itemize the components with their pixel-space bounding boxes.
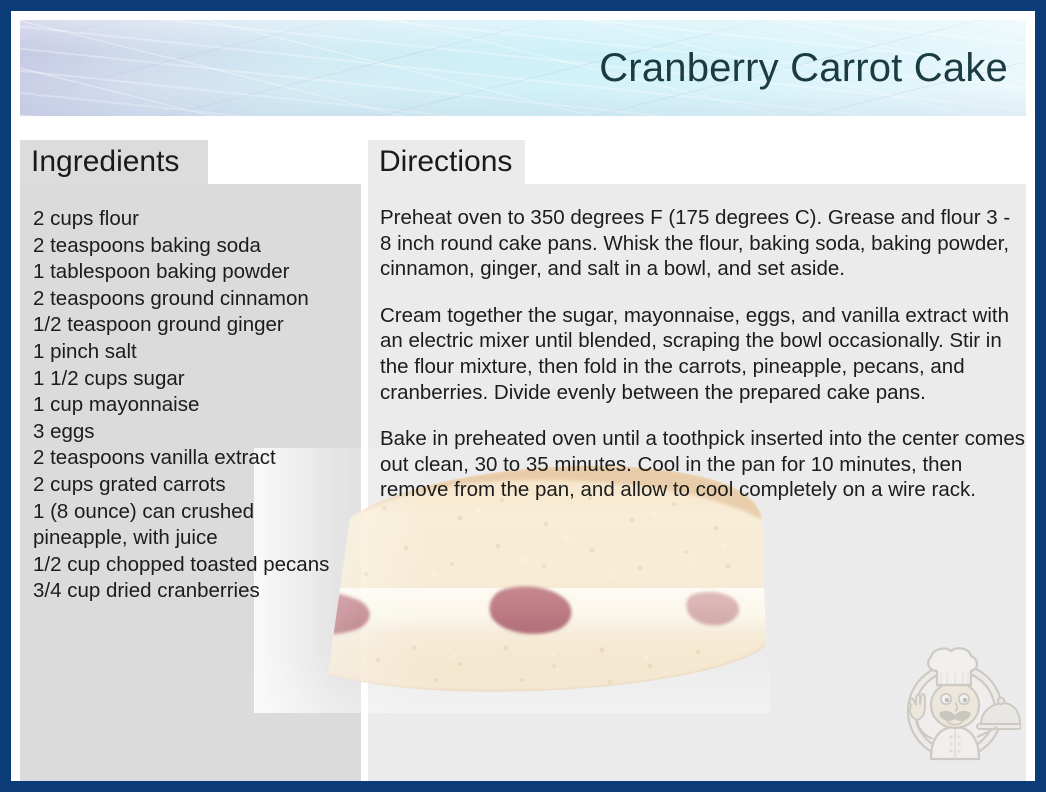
ingredient-item: 2 cups grated carrots [33,472,363,499]
ingredient-item: 1 (8 ounce) can crushed pineapple, with … [33,499,363,552]
ingredients-list: 2 cups flour2 teaspoons baking soda1 tab… [33,206,363,605]
ingredient-item: 1 tablespoon baking powder [33,259,363,286]
ingredients-heading: Ingredients [20,140,208,184]
ingredient-item: 1/2 cup chopped toasted pecans [33,552,363,579]
ingredient-item: 3 eggs [33,419,363,446]
ingredient-item: 2 cups flour [33,206,363,233]
direction-paragraph: Bake in preheated oven until a toothpick… [380,426,1025,503]
ingredient-item: 1 pinch salt [33,339,363,366]
directions-body: Preheat oven to 350 degrees F (175 degre… [380,205,1025,503]
ingredient-item: 1 1/2 cups sugar [33,366,363,393]
ingredient-item: 2 teaspoons ground cinnamon [33,286,363,313]
ingredient-item: 2 teaspoons baking soda [33,233,363,260]
ingredient-item: 2 teaspoons vanilla extract [33,445,363,472]
page-title: Cranberry Carrot Cake [599,46,1008,90]
direction-paragraph: Preheat oven to 350 degrees F (175 degre… [380,205,1025,282]
ingredient-item: 1/2 teaspoon ground ginger [33,312,363,339]
recipe-page: Cranberry Carrot Cake [11,11,1035,781]
ingredient-item: 3/4 cup dried cranberries [33,578,363,605]
header-banner: Cranberry Carrot Cake [20,20,1026,116]
recipe-card: Cranberry Carrot Cake [0,0,1046,792]
directions-heading: Directions [368,140,525,184]
direction-paragraph: Cream together the sugar, mayonnaise, eg… [380,303,1025,405]
ingredient-item: 1 cup mayonnaise [33,392,363,419]
